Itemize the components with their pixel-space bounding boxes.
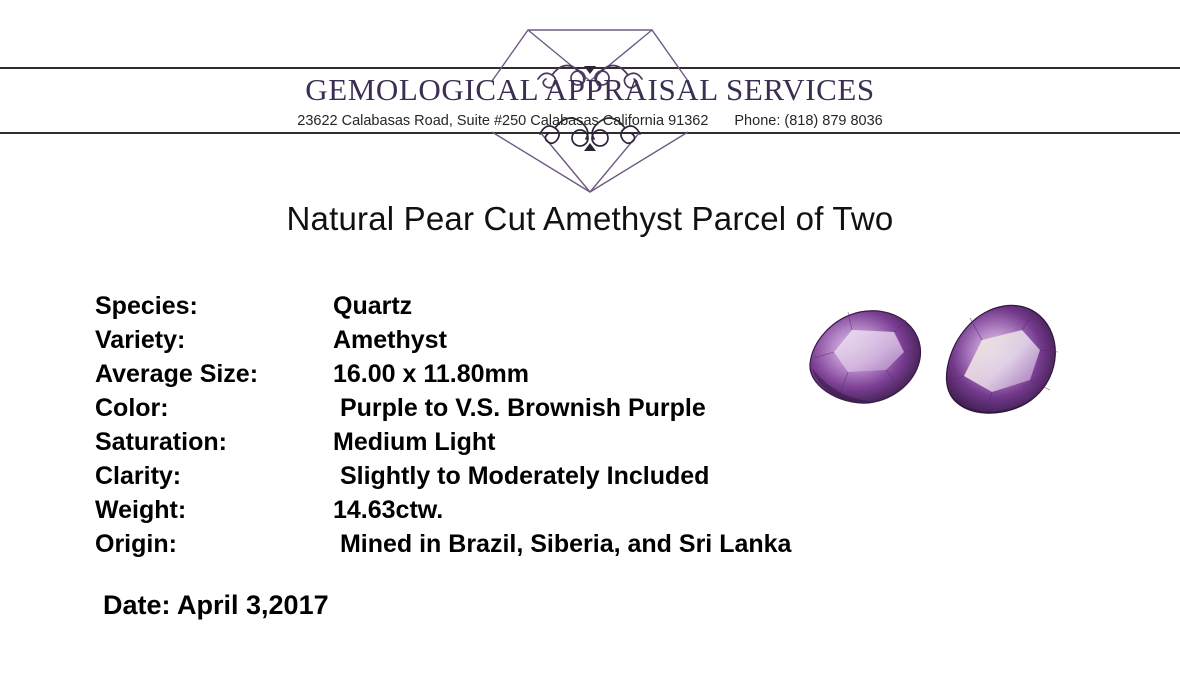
spec-row-saturation: Saturation: Medium Light xyxy=(95,428,895,462)
spec-value: Medium Light xyxy=(333,428,895,457)
spec-label: Origin: xyxy=(95,530,333,559)
spec-row-origin: Origin: Mined in Brazil, Siberia, and Sr… xyxy=(95,530,895,564)
company-address: 23622 Calabasas Road, Suite #250 Calabas… xyxy=(297,113,708,129)
spec-value: 14.63ctw. xyxy=(333,496,895,525)
spec-label: Weight: xyxy=(95,496,333,525)
spec-label: Color: xyxy=(95,394,333,423)
amethyst-pear-pair-photo xyxy=(800,296,1080,422)
spec-row-variety: Variety: Amethyst xyxy=(95,326,895,360)
spec-row-average-size: Average Size: 16.00 x 11.80mm xyxy=(95,360,895,394)
spec-row-clarity: Clarity: Slightly to Moderately Included xyxy=(95,462,895,496)
spec-row-color: Color: Purple to V.S. Brownish Purple xyxy=(95,394,895,428)
spec-label: Saturation: xyxy=(95,428,333,457)
certificate-date: Date: April 3,2017 xyxy=(103,590,329,621)
header-rule-bottom xyxy=(0,132,1180,134)
spec-label: Species: xyxy=(95,292,333,321)
spec-value: Mined in Brazil, Siberia, and Sri Lanka xyxy=(333,530,895,559)
contact-line: 23622 Calabasas Road, Suite #250 Calabas… xyxy=(0,113,1180,129)
company-phone: Phone: (818) 879 8036 xyxy=(734,113,882,129)
spec-row-species: Species: Quartz xyxy=(95,292,895,326)
gemstone-left xyxy=(810,311,921,403)
letterhead: GEMOLOGICAL APPRAISAL SERVICES 23622 Cal… xyxy=(0,0,1180,195)
certificate-title: Natural Pear Cut Amethyst Parcel of Two xyxy=(0,200,1180,238)
spec-row-weight: Weight: 14.63ctw. xyxy=(95,496,895,530)
gemstone-right xyxy=(946,305,1058,413)
spec-value: Slightly to Moderately Included xyxy=(333,462,895,491)
spec-label: Clarity: xyxy=(95,462,333,491)
company-name: GEMOLOGICAL APPRAISAL SERVICES xyxy=(0,74,1180,105)
specifications-list: Species: Quartz Variety: Amethyst Averag… xyxy=(95,292,895,564)
header-rule-top xyxy=(0,67,1180,69)
spec-label: Variety: xyxy=(95,326,333,355)
spec-label: Average Size: xyxy=(95,360,333,389)
